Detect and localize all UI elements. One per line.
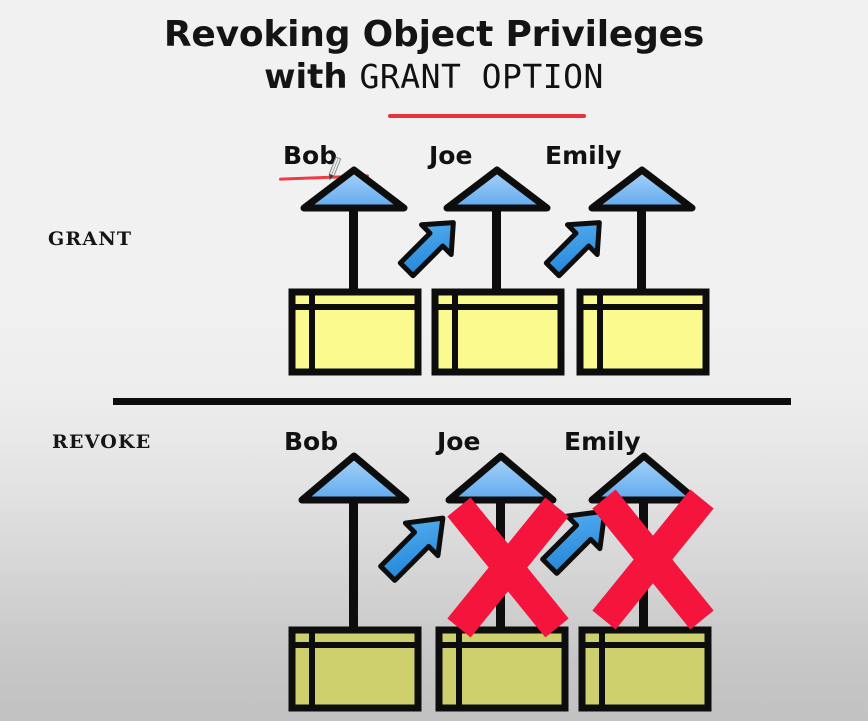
title-line-2: with GRANT OPTION [0,59,868,96]
red-x-icon [459,507,557,628]
row-label-revoke: REVOKE [52,431,151,453]
grant-row-arrow-joe-to-emily [533,203,619,289]
section-divider [113,398,791,405]
table-icon [292,292,418,372]
grant-row-arrow-bob-to-joe [387,203,473,289]
title-grant-option-keyword: GRANT OPTION [359,57,603,96]
table-icon [439,630,565,708]
revoke-x-emily [588,487,718,632]
grant-arrow-icon [392,208,468,284]
table-icon [580,292,706,372]
table-icon [435,292,561,372]
grant-row-emily-link [637,204,646,298]
title-underline-annotation [388,114,586,118]
grant-arrow-icon [538,208,614,284]
person-triangle-icon [302,456,406,500]
row-label-grant: GRANT [48,228,132,250]
grant-row-joe-link [492,204,501,298]
revoke-row-bob-link [349,496,358,636]
table-icon [292,630,418,708]
page-title: Revoking Object Privileges with GRANT OP… [0,16,868,96]
red-x-icon [604,499,702,620]
grant-row-bob-link [349,204,358,298]
revoke-x-joe [443,495,573,640]
table-icon [582,630,708,708]
slide-canvas: Revoking Object Privileges with GRANT OP… [0,0,868,721]
title-line-1: Revoking Object Privileges [0,16,868,55]
title-with-text: with [264,57,359,97]
